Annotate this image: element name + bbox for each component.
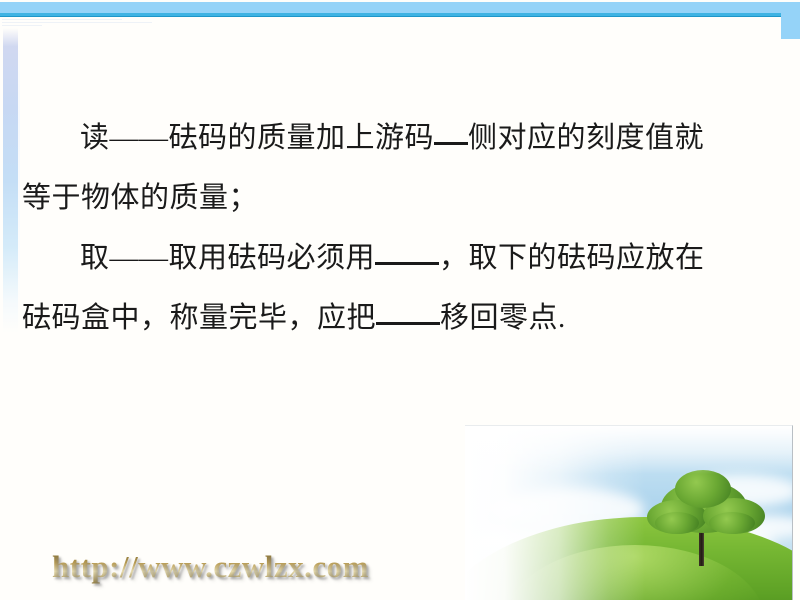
left-accent-strip xyxy=(3,28,18,333)
line-4-text-a: 砝码盒中，称量完毕，应把 xyxy=(22,302,376,334)
body-line-4: 砝码盒中，称量完毕，应把移回零点. xyxy=(22,288,782,348)
line-1-fill-blank xyxy=(434,142,468,145)
line-4-fill-blank xyxy=(376,322,440,325)
decorative-tick-3 xyxy=(2,25,42,26)
top-banner-right-tail xyxy=(781,2,800,39)
top-banner-rule-shadow xyxy=(0,16,781,17)
left-accent-strip-edge xyxy=(18,28,20,333)
line-4-text-b: 移回零点. xyxy=(440,302,566,334)
decorative-tick-1 xyxy=(2,19,122,20)
slide-canvas: 读——砝码的质量加上游码侧对应的刻度值就 等于物体的质量； 取——取用砝码必须用… xyxy=(0,0,800,600)
line-3-text-a: 取——取用砝码必须用 xyxy=(80,242,375,274)
line-3-fill-blank xyxy=(375,262,439,265)
line-1-text-a: 读——砝码的质量加上游码 xyxy=(80,122,434,154)
body-line-2: 等于物体的质量； xyxy=(22,168,782,228)
line-2-text: 等于物体的质量； xyxy=(22,182,258,214)
body-line-1: 读——砝码的质量加上游码侧对应的刻度值就 xyxy=(22,108,782,168)
photo-tree-crown xyxy=(655,512,699,534)
photo-tree-crown xyxy=(709,512,755,534)
body-line-3: 取——取用砝码必须用，取下的砝码应放在 xyxy=(22,228,782,288)
line-1-text-b: 侧对应的刻度值就 xyxy=(468,122,704,154)
line-3-text-b: ，取下的砝码应放在 xyxy=(439,242,705,274)
site-url-watermark: http://www.czwlzx.com xyxy=(52,549,369,585)
photo-tree-trunk xyxy=(699,531,704,566)
photo-top-fade xyxy=(465,426,792,474)
nature-photo xyxy=(465,425,793,600)
slide-body-text: 读——砝码的质量加上游码侧对应的刻度值就 等于物体的质量； 取——取用砝码必须用… xyxy=(22,108,782,348)
photo-tree-crown xyxy=(675,470,731,508)
decorative-tick-2 xyxy=(2,22,152,23)
